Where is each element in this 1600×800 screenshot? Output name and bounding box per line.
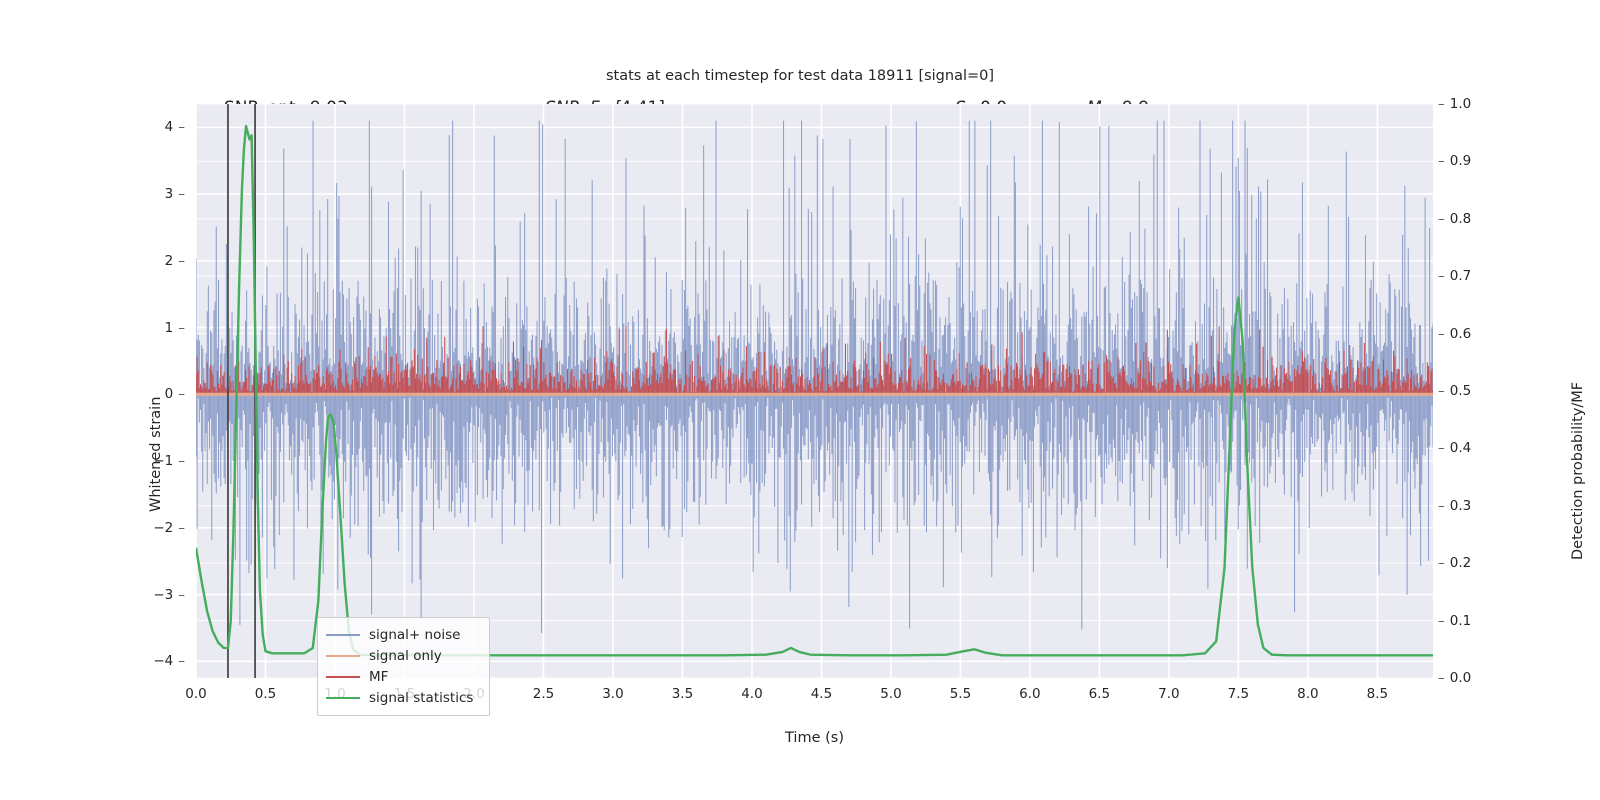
y-tick-left-5: −1– — [153, 453, 185, 469]
y-tick-right-3: –0.7 — [1438, 268, 1471, 284]
y-tick-right-4: –0.6 — [1438, 326, 1471, 342]
legend-item-2[interactable]: MF — [326, 666, 481, 687]
plot-svg — [196, 104, 1433, 678]
y-tick-right-10: –0.0 — [1438, 670, 1471, 686]
x-tick-0: 0.0 — [185, 686, 206, 702]
y-tick-left-7: −3– — [153, 587, 185, 603]
y-tick-right-9: –0.1 — [1438, 613, 1471, 629]
legend-label-1: signal only — [369, 648, 442, 664]
legend-item-0[interactable]: signal+ noise — [326, 624, 481, 645]
legend-box[interactable]: signal+ noisesignal onlyMFsignal statist… — [317, 617, 490, 716]
y-tick-right-8: –0.2 — [1438, 555, 1471, 571]
x-tick-13: 6.5 — [1089, 686, 1110, 702]
x-tick-12: 6.0 — [1019, 686, 1040, 702]
y-tick-right-0: –1.0 — [1438, 96, 1471, 112]
x-tick-8: 4.0 — [741, 686, 762, 702]
legend-swatch-3 — [326, 697, 360, 699]
y-tick-right-5: –0.5 — [1438, 383, 1471, 399]
legend-swatch-1 — [326, 655, 360, 657]
x-tick-14: 7.0 — [1158, 686, 1179, 702]
figure-canvas: stats at each timestep for test data 189… — [0, 0, 1600, 800]
plot-area — [196, 104, 1433, 678]
legend-item-3[interactable]: signal statistics — [326, 687, 481, 708]
y-tick-left-1: 3– — [165, 186, 185, 202]
x-tick-17: 8.5 — [1367, 686, 1388, 702]
x-tick-16: 8.0 — [1297, 686, 1318, 702]
x-tick-11: 5.5 — [950, 686, 971, 702]
x-tick-9: 4.5 — [811, 686, 832, 702]
y-tick-left-3: 1– — [165, 320, 185, 336]
x-tick-10: 5.0 — [880, 686, 901, 702]
y-tick-left-2: 2– — [165, 253, 185, 269]
x-tick-15: 7.5 — [1228, 686, 1249, 702]
x-tick-7: 3.5 — [672, 686, 693, 702]
y-tick-right-6: –0.4 — [1438, 440, 1471, 456]
x-axis-label: Time (s) — [196, 730, 1433, 746]
chart-title: stats at each timestep for test data 189… — [0, 68, 1600, 84]
x-tick-5: 2.5 — [533, 686, 554, 702]
legend-item-1[interactable]: signal only — [326, 645, 481, 666]
y-tick-right-7: –0.3 — [1438, 498, 1471, 514]
x-tick-6: 3.0 — [602, 686, 623, 702]
legend-label-0: signal+ noise — [369, 627, 460, 643]
y-tick-right-2: –0.8 — [1438, 211, 1471, 227]
y-axis-right-label: Detection probability/MF — [1570, 382, 1586, 560]
legend-label-2: MF — [369, 669, 388, 685]
legend-label-3: signal statistics — [369, 690, 473, 706]
y-tick-left-0: 4– — [165, 119, 185, 135]
y-tick-left-8: −4– — [153, 653, 185, 669]
series-signal-plus-noise — [196, 121, 1433, 633]
x-tick-1: 0.5 — [255, 686, 276, 702]
y-tick-right-1: –0.9 — [1438, 153, 1471, 169]
legend-swatch-2 — [326, 676, 360, 678]
y-tick-left-4: 0– — [165, 386, 185, 402]
y-tick-left-6: −2– — [153, 520, 185, 536]
legend-swatch-0 — [326, 634, 360, 636]
